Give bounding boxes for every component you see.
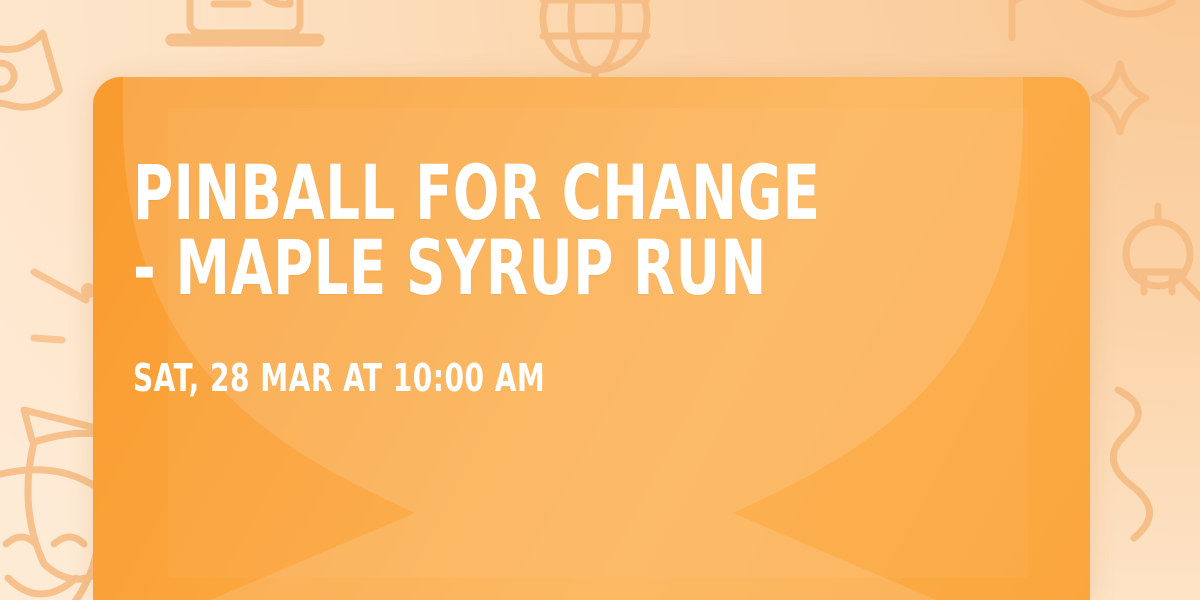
confetti-dash-icon xyxy=(34,272,86,340)
flag-icon xyxy=(1012,0,1172,38)
event-date: SAT, 28 MAR AT 10:00 AM xyxy=(133,359,855,397)
ticket-icon xyxy=(0,25,61,127)
laptop-presentation-icon xyxy=(172,0,318,40)
card-content: PINBALL FOR CHANGE - MAPLE SYRUP RUN SAT… xyxy=(133,155,1013,397)
event-card[interactable]: PINBALL FOR CHANGE - MAPLE SYRUP RUN SAT… xyxy=(93,77,1090,600)
confetti-dash-icon xyxy=(1113,390,1149,538)
sparkle-icon xyxy=(1094,64,1146,132)
microphone-icon xyxy=(1126,206,1200,314)
confetti-dash-icon xyxy=(88,290,89,291)
event-title: PINBALL FOR CHANGE - MAPLE SYRUP RUN xyxy=(133,155,837,305)
event-banner: PINBALL FOR CHANGE - MAPLE SYRUP RUN SAT… xyxy=(0,0,1200,600)
